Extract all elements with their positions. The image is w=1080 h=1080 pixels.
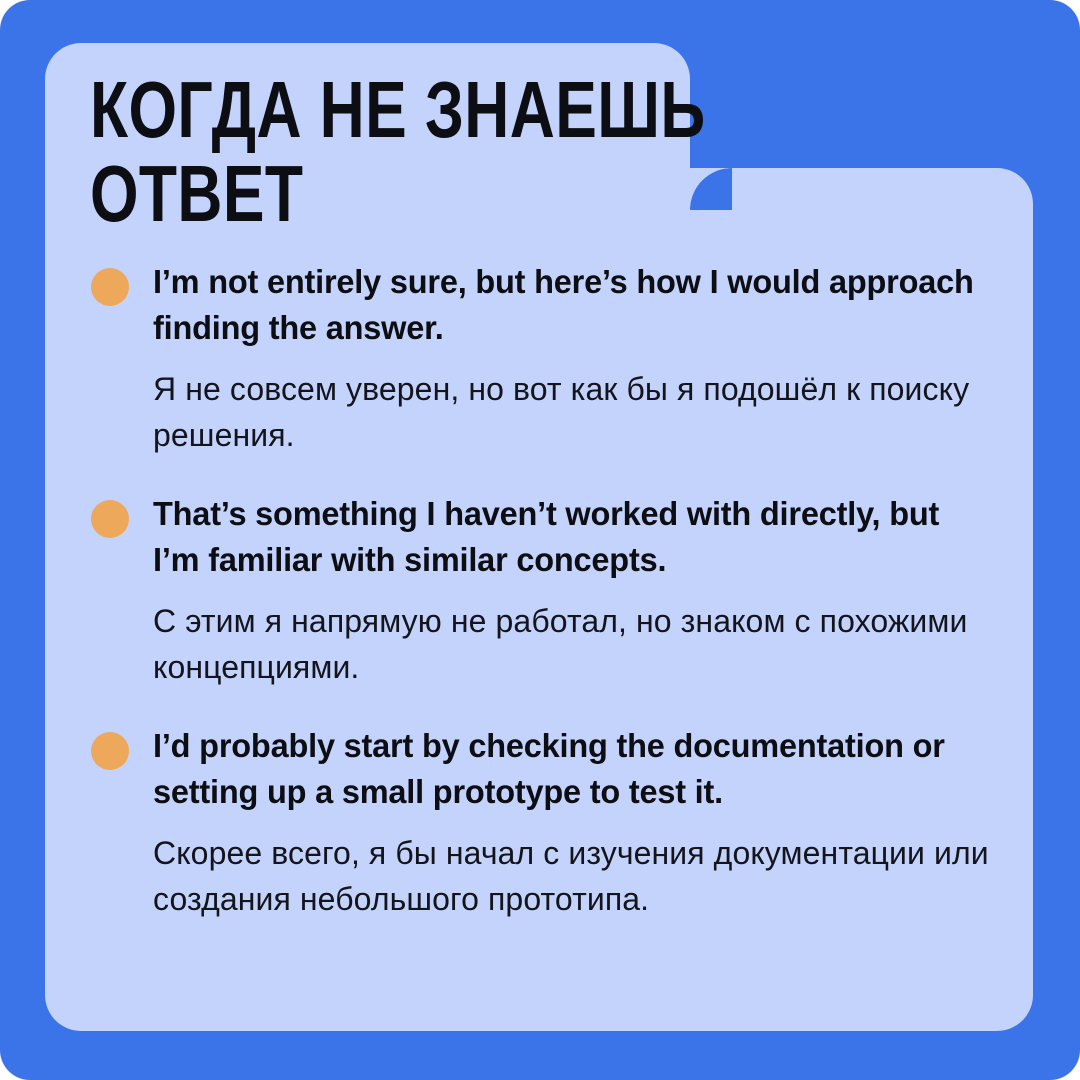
list-item: That’s something I haven’t worked with d… <box>90 492 1009 690</box>
list-item: I’m not entirely sure, but here’s how I … <box>90 260 1009 458</box>
bullet-translation-russian: С этим я напрямую не работал, но знаком … <box>153 598 1009 690</box>
orange-dot-icon <box>91 268 129 306</box>
bullet-phrase-english: I’m not entirely sure, but here’s how I … <box>153 260 983 352</box>
list-item: I’d probably start by checking the docum… <box>90 724 1009 922</box>
bullet-phrase-english: I’d probably start by checking the docum… <box>153 724 983 816</box>
content-card: КОГДА НЕ ЗНАЕШЬ ОТВЕТ I’m not entirely s… <box>45 43 1033 1031</box>
bullet-phrase-english: That’s something I haven’t worked with d… <box>153 492 983 584</box>
card-content: КОГДА НЕ ЗНАЕШЬ ОТВЕТ I’m not entirely s… <box>45 43 1033 1031</box>
bullet-list: I’m not entirely sure, but here’s how I … <box>90 260 1009 922</box>
bullet-translation-russian: Я не совсем уверен, но вот как бы я подо… <box>153 366 1009 458</box>
bullet-translation-russian: Скорее всего, я бы начал с изучения доку… <box>153 830 1009 922</box>
orange-dot-icon <box>91 500 129 538</box>
page-title: КОГДА НЕ ЗНАЕШЬ ОТВЕТ <box>90 43 1008 236</box>
slide-canvas: КОГДА НЕ ЗНАЕШЬ ОТВЕТ I’m not entirely s… <box>0 0 1080 1080</box>
orange-dot-icon <box>91 732 129 770</box>
